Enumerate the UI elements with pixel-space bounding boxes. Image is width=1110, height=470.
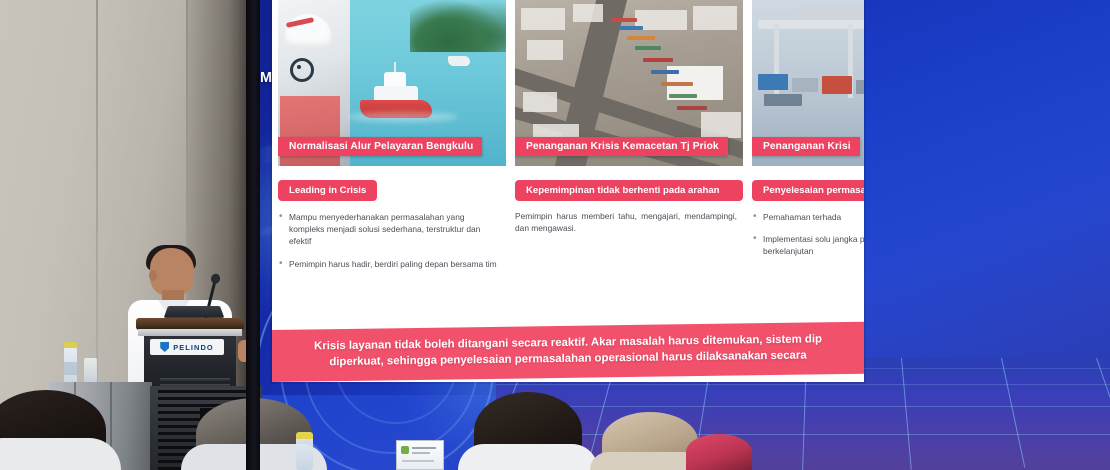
photo-caption: Penanganan Krisis Kemacetan Tj Priok xyxy=(515,137,728,156)
audience-head xyxy=(686,434,752,470)
audience-head xyxy=(0,390,106,470)
text-block-body: Pemimpin harus memberi tahu, mengajari, … xyxy=(515,211,743,235)
bullet-list: Pemahaman terhada Implementasi solu jang… xyxy=(752,211,864,258)
list-item: Implementasi solu jangka panjang tida ha… xyxy=(752,233,864,257)
head xyxy=(150,248,194,296)
slide-column-1: Normalisasi Alur Pelayaran Bengkulu Lead… xyxy=(278,0,506,318)
list-item: Pemahaman terhada xyxy=(752,211,864,223)
bullet-list: Mampu menyederhanakan permasalahan yang … xyxy=(278,211,506,270)
audience-head xyxy=(474,392,582,470)
text-block-heading: Penyelesaian permasa xyxy=(752,180,864,201)
foreground-name-card xyxy=(396,440,444,470)
bottle-label xyxy=(64,362,77,375)
text-block-2: Kepemimpinan tidak berhenti pada arahan … xyxy=(515,180,743,235)
photo-caption: Penanganan Krisi xyxy=(752,137,860,156)
podium-top-trim xyxy=(138,329,242,336)
photo-kemacetan-tj-priok: Penanganan Krisis Kemacetan Tj Priok xyxy=(515,0,743,166)
slide-column-2: Penanganan Krisis Kemacetan Tj Priok Kep… xyxy=(515,0,743,318)
photo-caption: Normalisasi Alur Pelayaran Bengkulu xyxy=(278,137,482,156)
text-block-1: Leading in Crisis Mampu menyederhanakan … xyxy=(278,180,506,270)
photo-normalisasi-bengkulu: Normalisasi Alur Pelayaran Bengkulu xyxy=(278,0,506,166)
ear xyxy=(149,270,157,281)
slide-column-3: Penanganan Krisi Penyelesaian permasa Pe… xyxy=(752,0,864,318)
paragraph: Pemimpin harus memberi tahu, mengajari, … xyxy=(515,211,737,235)
list-item: Mampu menyederhanakan permasalahan yang … xyxy=(278,211,506,248)
screenshot-root: Indonesia REFLEKSI KINERJA 2025 MENYONGS… xyxy=(0,0,1110,470)
slide-bottom-banner: Krisis layanan tidak boleh ditangani sec… xyxy=(272,322,864,382)
banner-text: Krisis layanan tidak boleh ditangani sec… xyxy=(286,332,850,371)
text-block-heading: Kepemimpinan tidak berhenti pada arahan xyxy=(515,180,743,201)
bottle-cap xyxy=(64,342,77,348)
audience-head xyxy=(602,412,698,470)
text-block-3: Penyelesaian permasa Pemahaman terhada I… xyxy=(752,180,864,258)
pelindo-mark-icon xyxy=(160,342,169,352)
foreground-bottle-cap xyxy=(296,432,313,439)
podium-nameplate: PELINDO xyxy=(150,339,224,355)
photo-container-crane: Penanganan Krisi xyxy=(752,0,864,166)
nameplate-text: PELINDO xyxy=(173,343,214,352)
list-item: Pemimpin harus hadir, berdiri paling dep… xyxy=(278,258,506,270)
backdrop-frame-edge xyxy=(246,0,260,470)
presentation-slide: Normalisasi Alur Pelayaran Bengkulu Lead… xyxy=(272,0,864,382)
laptop xyxy=(164,306,225,318)
text-block-heading: Leading in Crisis xyxy=(278,180,377,201)
